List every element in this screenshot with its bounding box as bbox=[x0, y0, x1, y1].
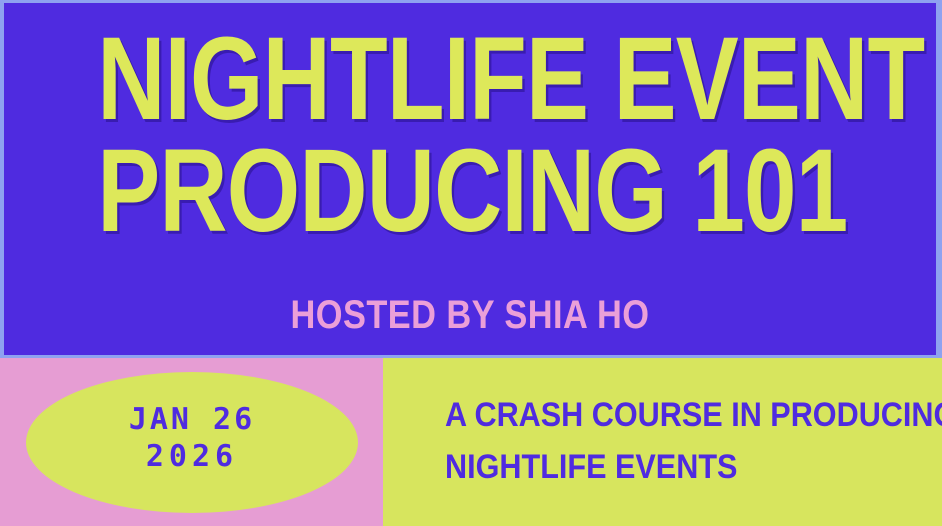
description-line-1: A CRASH COURSE IN PRODUCING bbox=[445, 390, 877, 442]
description-panel: A CRASH COURSE IN PRODUCING NIGHTLIFE EV… bbox=[383, 358, 942, 526]
event-description: A CRASH COURSE IN PRODUCING NIGHTLIFE EV… bbox=[445, 390, 877, 493]
date-line-1: JAN 26 bbox=[129, 402, 255, 437]
hero-band: NIGHTLIFE EVENT PRODUCING 101 HOSTED BY … bbox=[4, 3, 936, 355]
event-poster: NIGHTLIFE EVENT PRODUCING 101 HOSTED BY … bbox=[0, 0, 942, 526]
description-line-2: NIGHTLIFE EVENTS bbox=[445, 442, 877, 494]
title-line-1: NIGHTLIFE EVENT bbox=[97, 25, 843, 135]
event-date: JAN 26 2026 bbox=[26, 402, 358, 475]
title-line-2: PRODUCING 101 bbox=[97, 137, 843, 247]
event-title: NIGHTLIFE EVENT PRODUCING 101 bbox=[4, 25, 936, 246]
date-panel: JAN 26 2026 bbox=[0, 358, 383, 526]
hosted-by-label: HOSTED BY SHIA HO bbox=[69, 295, 871, 335]
date-line-2: 2026 bbox=[146, 439, 238, 474]
date-ellipse-shape: JAN 26 2026 bbox=[26, 372, 358, 513]
